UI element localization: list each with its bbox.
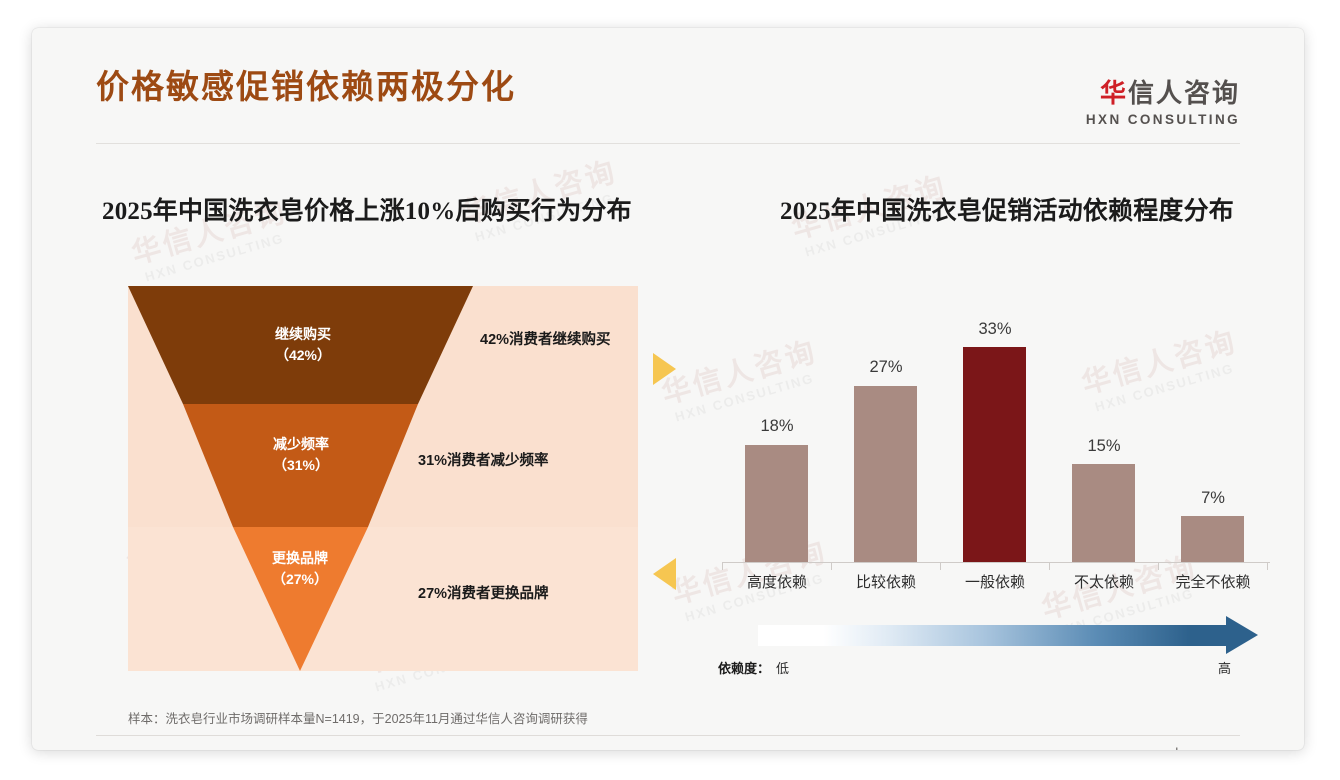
bar-group[interactable]: 33%	[943, 322, 1047, 562]
watermark-en: HXN CONSULTING	[143, 228, 295, 285]
logo-chinese: 华信人咨询	[1086, 80, 1240, 106]
main-title-text: 价格敏感促销依赖两极分化	[96, 68, 516, 106]
legend-high-label: 高	[1218, 658, 1231, 677]
footer-website[interactable]: www.hxrcon.com	[1146, 746, 1240, 750]
funnel-label-2: 更换品牌 （27%）	[235, 548, 365, 590]
funnel-label-2-name: 更换品牌	[272, 550, 328, 566]
bar-value-2: 33%	[943, 320, 1047, 339]
bar-category-4: 完全不依赖	[1161, 571, 1265, 592]
axis-tick	[1158, 563, 1159, 570]
bar-value-3: 15%	[1052, 437, 1156, 456]
bar-value-0: 18%	[725, 417, 829, 436]
bar-group[interactable]: 7%	[1161, 494, 1265, 562]
funnel-note-2: 27%消费者更换品牌	[418, 582, 549, 603]
bar-category-3: 不太依赖	[1052, 571, 1156, 592]
triangle-right-icon	[653, 353, 676, 385]
footer-copyright: ©2026.1 HXR华信人咨询	[96, 746, 236, 750]
bar-rect-3[interactable]	[1072, 464, 1135, 562]
axis-tick	[1267, 563, 1268, 570]
bar-rect-4[interactable]	[1181, 516, 1244, 562]
x-axis-line	[722, 562, 1270, 563]
bar-rect-1[interactable]	[854, 386, 917, 562]
funnel-note-0: 42%消费者继续购买	[480, 328, 611, 349]
triangle-left-icon	[653, 558, 676, 590]
dependency-bar-chart: 18% 高度依赖 27% 比较依赖 33% 一般依赖 15% 不太依赖 7% 完…	[718, 298, 1274, 598]
footer-divider	[96, 735, 1240, 736]
axis-tick	[940, 563, 941, 570]
right-chart-title: 2025年中国洗衣皂促销活动依赖程度分布	[780, 191, 1234, 227]
bar-value-4: 7%	[1161, 489, 1265, 508]
logo-english: HXN CONSULTING	[1086, 113, 1240, 127]
bar-category-2: 一般依赖	[943, 571, 1047, 592]
bar-group[interactable]: 18%	[725, 422, 829, 562]
brand-logo: 华信人咨询 HXN CONSULTING	[1086, 80, 1240, 127]
funnel-note-1: 31%消费者减少频率	[418, 449, 549, 470]
bar-category-0: 高度依赖	[725, 571, 829, 592]
logo-rest-chars: 信人咨询	[1128, 78, 1240, 108]
dependency-scale-legend: 依赖度： 低 高	[718, 620, 1274, 682]
bar-category-1: 比较依赖	[834, 571, 938, 592]
slide-canvas: 华信人咨询 HXN CONSULTING 华信人咨询 HXN CONSULTIN…	[32, 28, 1304, 750]
bar-value-1: 27%	[834, 358, 938, 377]
source-note: 样本：洗衣皂行业市场调研样本量N=1419，于2025年11月通过华信人咨询调研…	[128, 708, 588, 727]
left-chart-title: 2025年中国洗衣皂价格上涨10%后购买行为分布	[102, 191, 632, 227]
funnel-label-0: 继续购买 （42%）	[238, 324, 368, 366]
bar-rect-2[interactable]	[963, 347, 1026, 562]
page-title: 价格敏感促销依赖两极分化	[96, 68, 516, 106]
funnel-label-2-value: （27%）	[272, 571, 328, 587]
legend-title: 依赖度：	[718, 658, 770, 677]
funnel-label-0-value: （42%）	[275, 347, 331, 363]
logo-first-char: 华	[1100, 78, 1128, 108]
gradient-arrow-head-icon	[1226, 616, 1258, 654]
funnel-label-1-name: 减少频率	[273, 436, 329, 452]
axis-tick	[1049, 563, 1050, 570]
funnel-label-0-name: 继续购买	[275, 326, 331, 342]
funnel-chart: 继续购买 （42%） 减少频率 （31%） 更换品牌 （27%） 42%消费者继…	[128, 286, 638, 671]
header-divider	[96, 143, 1240, 144]
bar-rect-0[interactable]	[745, 445, 808, 562]
funnel-label-1-value: （31%）	[273, 457, 329, 473]
funnel-label-1: 减少频率 （31%）	[236, 434, 366, 476]
bar-group[interactable]: 15%	[1052, 442, 1156, 562]
gradient-bar	[758, 625, 1228, 646]
axis-tick	[722, 563, 723, 570]
bar-group[interactable]: 27%	[834, 362, 938, 562]
legend-low-label: 低	[776, 658, 789, 677]
axis-tick	[831, 563, 832, 570]
